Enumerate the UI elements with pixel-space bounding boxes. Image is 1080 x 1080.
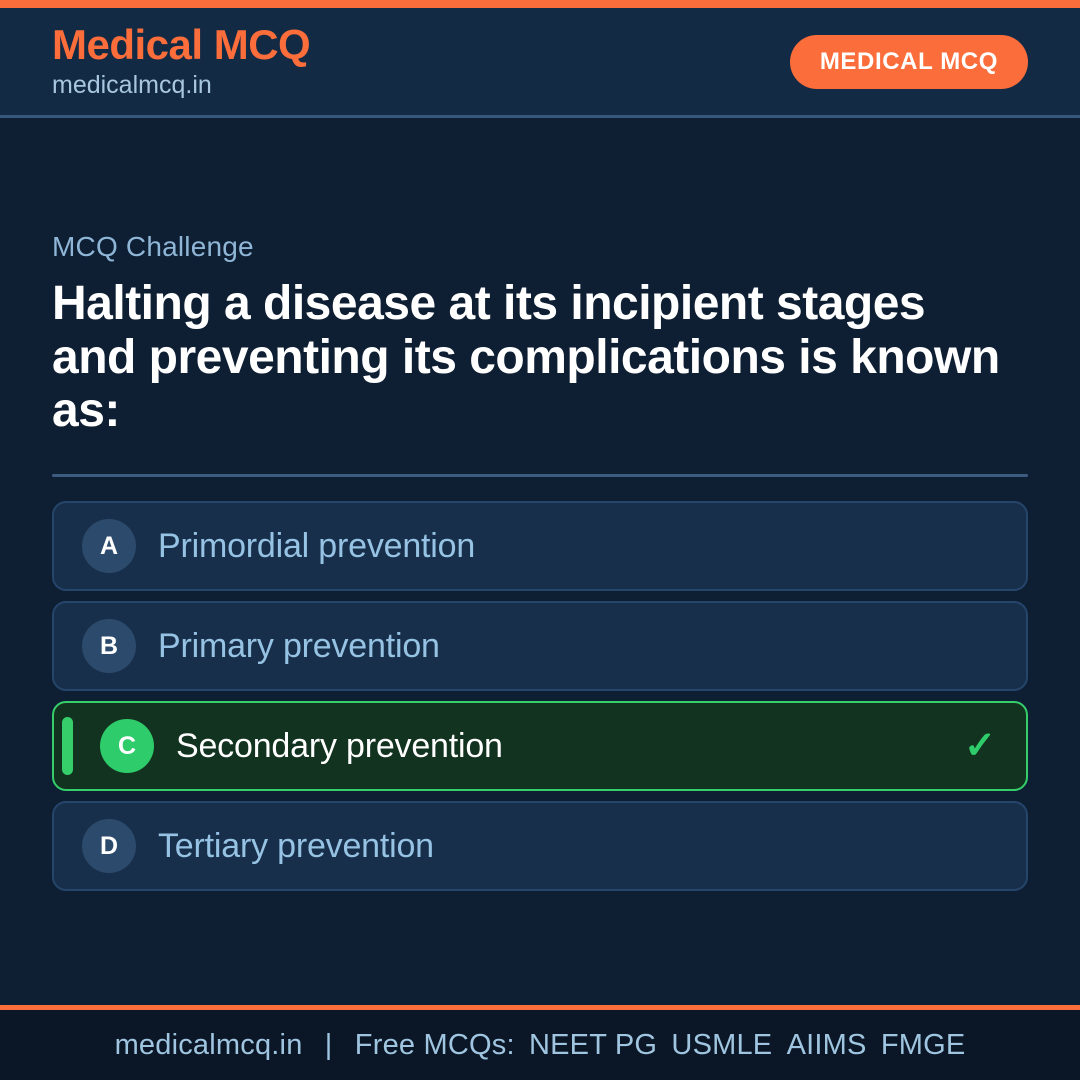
option-label-a: Primordial prevention <box>158 527 475 566</box>
brand-title: Medical MCQ <box>52 23 310 67</box>
footer-text: medicalmcq.in | Free MCQs: NEET PG USMLE… <box>115 1029 966 1062</box>
section-divider <box>52 474 1028 477</box>
option-badge-b: B <box>82 619 136 673</box>
main-content: MCQ Challenge Halting a disease at its i… <box>0 121 1080 1001</box>
option-label-b: Primary prevention <box>158 627 440 666</box>
options-list: A Primordial prevention B Primary preven… <box>52 501 1028 891</box>
brand-block: Medical MCQ medicalmcq.in <box>52 23 310 99</box>
option-label-d: Tertiary prevention <box>158 827 434 866</box>
page-footer: medicalmcq.in | Free MCQs: NEET PG USMLE… <box>0 1010 1080 1080</box>
correct-accent-bar <box>62 717 73 775</box>
footer-exam-1: USMLE <box>665 1029 772 1061</box>
option-badge-d: D <box>82 819 136 873</box>
footer-site: medicalmcq.in <box>115 1029 303 1061</box>
check-icon: ✓ <box>964 727 996 765</box>
top-accent-bar <box>0 0 1080 8</box>
eyebrow-label: MCQ Challenge <box>52 231 1028 263</box>
header-badge-pill: MEDICAL MCQ <box>790 35 1028 89</box>
option-row-a[interactable]: A Primordial prevention <box>52 501 1028 591</box>
option-row-c[interactable]: C Secondary prevention ✓ <box>52 701 1028 791</box>
option-label-c: Secondary prevention <box>176 727 503 766</box>
footer-separator: | <box>311 1029 347 1061</box>
brand-subtitle: medicalmcq.in <box>52 70 310 100</box>
footer-tagline: Free MCQs: <box>355 1029 515 1061</box>
footer-exam-list: NEET PG USMLE AIIMS FMGE <box>523 1029 965 1061</box>
page-header: Medical MCQ medicalmcq.in MEDICAL MCQ <box>0 8 1080 118</box>
footer-exam-3: FMGE <box>875 1029 966 1061</box>
option-row-d[interactable]: D Tertiary prevention <box>52 801 1028 891</box>
option-row-b[interactable]: B Primary prevention <box>52 601 1028 691</box>
option-badge-c: C <box>100 719 154 773</box>
question-text: Halting a disease at its incipient stage… <box>52 277 1002 438</box>
option-badge-a: A <box>82 519 136 573</box>
footer-exam-0: NEET PG <box>523 1029 657 1061</box>
footer-exam-2: AIIMS <box>781 1029 867 1061</box>
